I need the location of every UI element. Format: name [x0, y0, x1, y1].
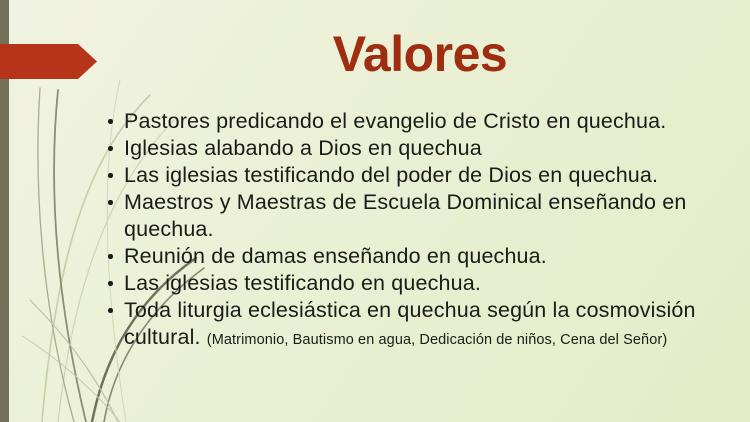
- list-item-text: Las iglesias testificando del poder de D…: [124, 163, 658, 187]
- slide-canvas: Valores Pastores predicando el evangelio…: [0, 0, 750, 422]
- list-item-text: Maestros y Maestras de Escuela Dominical…: [124, 190, 686, 241]
- list-item: Las iglesias testificando del poder de D…: [104, 162, 736, 189]
- list-item: Las iglesias testificando en quechua.: [104, 270, 736, 297]
- list-item-text: Iglesias alabando a Dios en quechua: [124, 136, 482, 160]
- list-item-text: Las iglesias testificando en quechua.: [124, 271, 481, 295]
- list-item: Maestros y Maestras de Escuela Dominical…: [104, 189, 736, 243]
- list-item-note: (Matrimonio, Bautismo en agua, Dedicació…: [207, 332, 667, 348]
- red-banner-arrow-icon: [0, 44, 97, 79]
- list-item: Toda liturgia eclesiástica en quechua se…: [104, 297, 736, 354]
- page-title: Valores: [110, 27, 730, 82]
- list-item-text: Pastores predicando el evangelio de Cris…: [124, 109, 666, 133]
- list-item: Reunión de damas enseñando en quechua.: [104, 243, 736, 270]
- list-item: Pastores predicando el evangelio de Cris…: [104, 108, 736, 135]
- list-item: Iglesias alabando a Dios en quechua: [104, 135, 736, 162]
- values-bullet-list: Pastores predicando el evangelio de Cris…: [104, 108, 736, 354]
- list-item-text: Reunión de damas enseñando en quechua.: [124, 244, 547, 268]
